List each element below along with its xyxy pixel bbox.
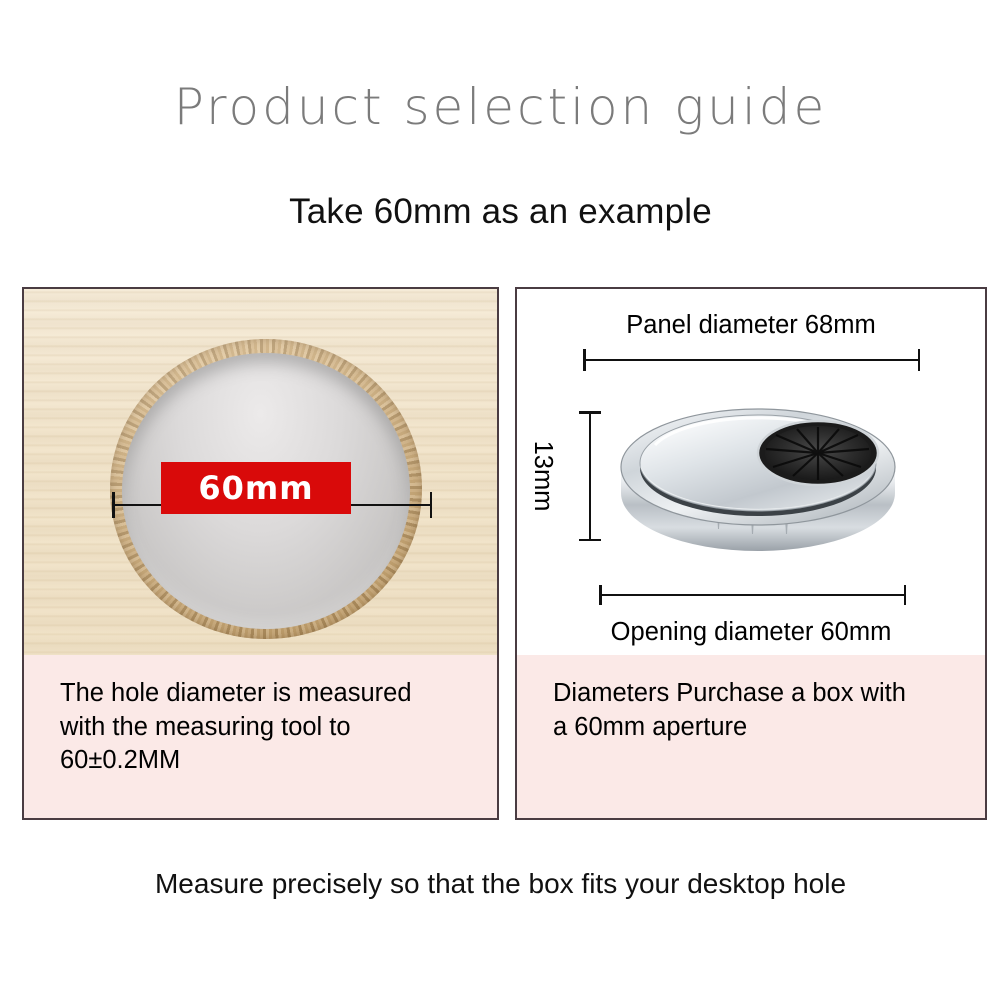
- opening-diameter-dimension-line: [599, 585, 906, 605]
- product-selection-guide-page: Product selection guide Take 60mm as an …: [0, 0, 1001, 1001]
- caption-line-1: The hole diameter is measured: [60, 677, 473, 711]
- dimension-line-body: [583, 359, 920, 361]
- dimension-tick-right: [430, 492, 433, 518]
- panel-diameter-label: Panel diameter 68mm: [517, 311, 985, 340]
- page-subtitle: Take 60mm as an example: [0, 192, 1001, 232]
- cable-grommet-illustration: [613, 375, 903, 575]
- dimension-tick-right: [904, 585, 907, 605]
- hole-measurement-caption: The hole diameter is measured with the m…: [24, 655, 497, 818]
- caption-line-1: Diameters Purchase a box with: [553, 677, 961, 711]
- opening-diameter-label: Opening diameter 60mm: [517, 618, 985, 647]
- dimension-tick-bottom: [579, 539, 601, 542]
- hole-diameter-badge: 60mm: [161, 462, 351, 514]
- caption-line-3: 60±0.2MM: [60, 744, 473, 778]
- dimension-line-body: [599, 594, 906, 596]
- height-label: 13mm: [517, 456, 608, 496]
- product-purchase-caption: Diameters Purchase a box with a 60mm ape…: [517, 655, 985, 818]
- footer-note: Measure precisely so that the box fits y…: [0, 868, 1001, 900]
- caption-line-2: a 60mm aperture: [553, 711, 961, 745]
- caption-line-2: with the measuring tool to: [60, 711, 473, 745]
- page-title: Product selection guide: [0, 78, 1001, 136]
- panel-hole-measurement: The hole diameter is measured with the m…: [22, 287, 499, 820]
- dimension-tick-right: [918, 349, 921, 371]
- grommet-diagram: Panel diameter 68mm 13mm: [517, 289, 985, 655]
- panel-product-dimensions: Panel diameter 68mm 13mm: [515, 287, 987, 820]
- panel-diameter-dimension-line: [583, 349, 920, 371]
